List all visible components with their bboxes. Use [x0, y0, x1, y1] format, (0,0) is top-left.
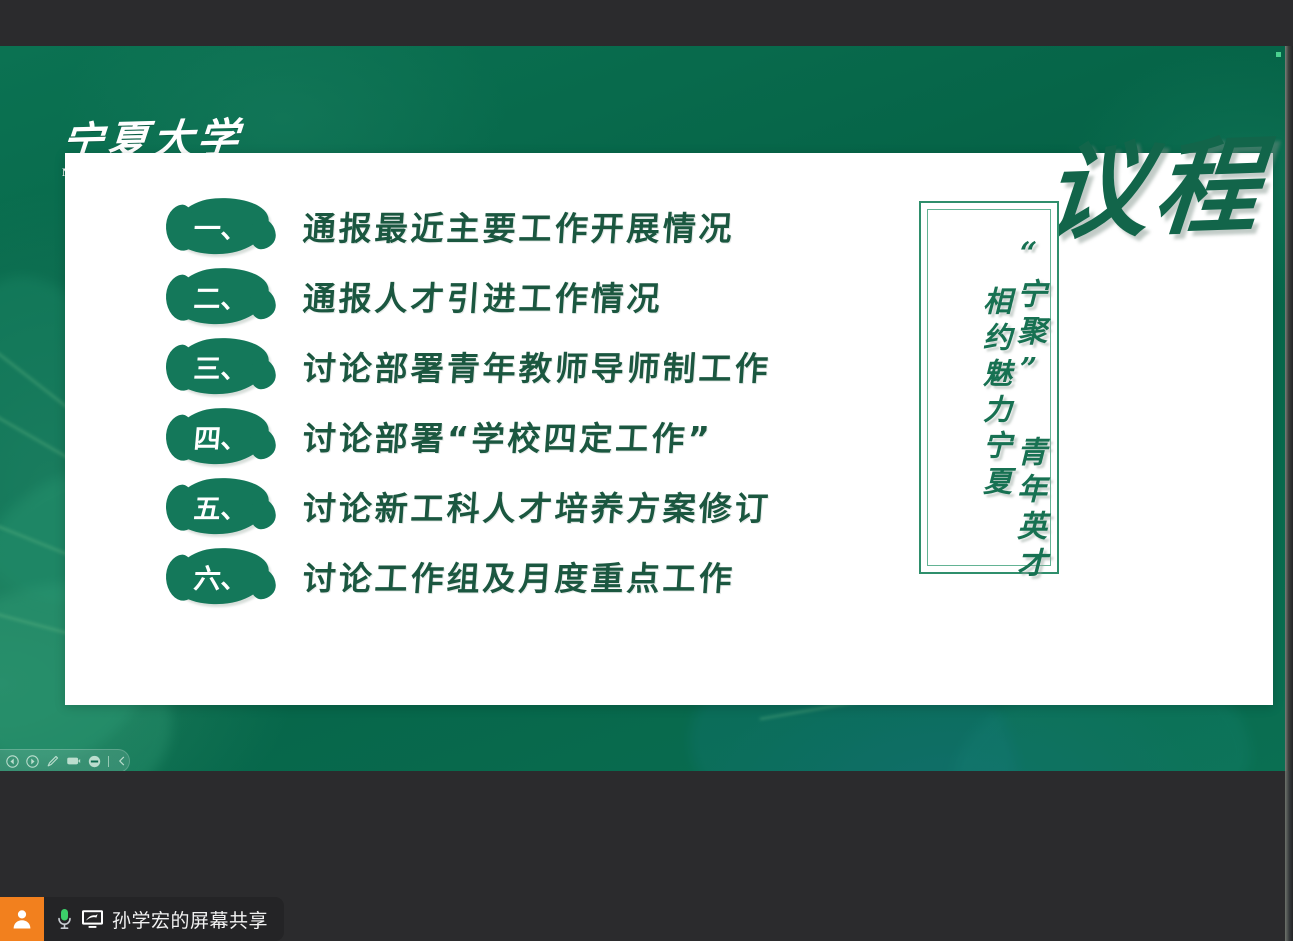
agenda-number-badge: 五、: [171, 475, 271, 538]
agenda-number-badge: 四、: [171, 405, 271, 468]
screen-share-window: 宁夏大学 NINGXIA UNIVERSITY 议程 一、 通报最近主要工作开展…: [0, 0, 1293, 941]
participant-name-pill[interactable]: 孙学宏的屏幕共享: [44, 897, 284, 941]
participant-name-label: 孙学宏的屏幕共享: [112, 906, 268, 933]
recording-indicator-dot: [1276, 52, 1281, 57]
next-slide-icon[interactable]: [25, 754, 39, 769]
agenda-number-badge: 一、: [171, 195, 271, 258]
microphone-icon: [56, 907, 73, 931]
avatar: [0, 897, 44, 941]
right-edge-sliver-lower: [1285, 771, 1293, 941]
list-item[interactable]: 一、 通报最近主要工作开展情况: [173, 191, 903, 261]
agenda-number: 二、: [192, 277, 249, 316]
laser-pointer-icon[interactable]: [66, 754, 81, 769]
agenda-number: 三、: [192, 347, 249, 386]
list-item[interactable]: 六、 讨论工作组及月度重点工作: [173, 541, 903, 611]
shared-screen-viewport[interactable]: 宁夏大学 NINGXIA UNIVERSITY 议程 一、 通报最近主要工作开展…: [0, 46, 1285, 771]
collapse-icon[interactable]: [115, 754, 129, 769]
agenda-item-label: 讨论工作组及月度重点工作: [301, 552, 736, 600]
agenda-item-label: 通报最近主要工作开展情况: [301, 202, 736, 250]
right-edge-sliver: [1285, 46, 1293, 771]
annotation-toolbar[interactable]: [0, 749, 130, 771]
participant-strip[interactable]: 孙学宏的屏幕共享: [0, 897, 284, 941]
list-item[interactable]: 三、 讨论部署青年教师导师制工作: [173, 331, 903, 401]
top-chrome-bar: [0, 0, 1293, 46]
agenda-item-label: 讨论部署青年教师导师制工作: [301, 342, 772, 390]
agenda-item-label: 讨论部署“学校四定工作”: [301, 412, 714, 460]
list-item[interactable]: 四、 讨论部署“学校四定工作”: [173, 401, 903, 471]
toolbar-divider: [108, 756, 109, 767]
agenda-number-badge: 三、: [171, 335, 271, 398]
couplet-left-column: 相约魅力宁夏: [980, 286, 1010, 557]
couplet-inner-frame: “宁聚” 青年英才 相约魅力宁夏: [927, 209, 1051, 566]
agenda-number: 一、: [192, 207, 249, 246]
agenda-item-label: 通报人才引进工作情况: [301, 272, 664, 320]
agenda-number-badge: 六、: [171, 545, 271, 608]
agenda-list: 一、 通报最近主要工作开展情况 二、 通报人才引进工作情况 三、 讨论部署青年教…: [173, 191, 903, 611]
list-item[interactable]: 二、 通报人才引进工作情况: [173, 261, 903, 331]
couplet-panel: “宁聚” 青年英才 相约魅力宁夏: [919, 201, 1059, 574]
agenda-number-badge: 二、: [171, 265, 271, 328]
agenda-item-label: 讨论新工科人才培养方案修订: [301, 482, 772, 530]
agenda-number: 五、: [192, 487, 249, 526]
agenda-number: 六、: [192, 557, 249, 596]
agenda-number: 四、: [192, 417, 249, 456]
slide-content-card: 议程 一、 通报最近主要工作开展情况 二、 通报人才引进工作情况: [65, 153, 1273, 705]
eraser-icon[interactable]: [87, 754, 101, 769]
list-item[interactable]: 五、 讨论新工科人才培养方案修订: [173, 471, 903, 541]
screen-share-icon: [81, 909, 104, 929]
pen-icon[interactable]: [46, 754, 60, 769]
page-title: 议程: [1040, 133, 1269, 245]
couplet-right-column: “宁聚” 青年英才: [1013, 236, 1045, 557]
person-icon: [10, 907, 34, 931]
previous-slide-icon[interactable]: [5, 754, 19, 769]
